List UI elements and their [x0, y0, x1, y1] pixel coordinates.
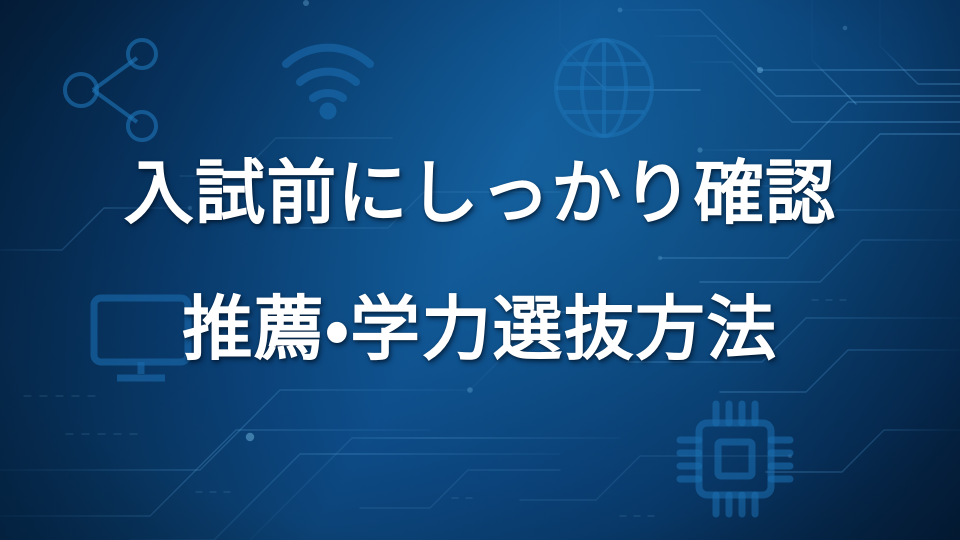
- headline-line-2: 推薦・学力選抜方法: [182, 294, 777, 364]
- headline-line-1: 入試前にしっかり確認: [124, 158, 837, 228]
- headline-block: 入試前にしっかり確認 推薦・学力選抜方法: [0, 0, 960, 540]
- title-banner: 入試前にしっかり確認 推薦・学力選抜方法: [0, 0, 960, 540]
